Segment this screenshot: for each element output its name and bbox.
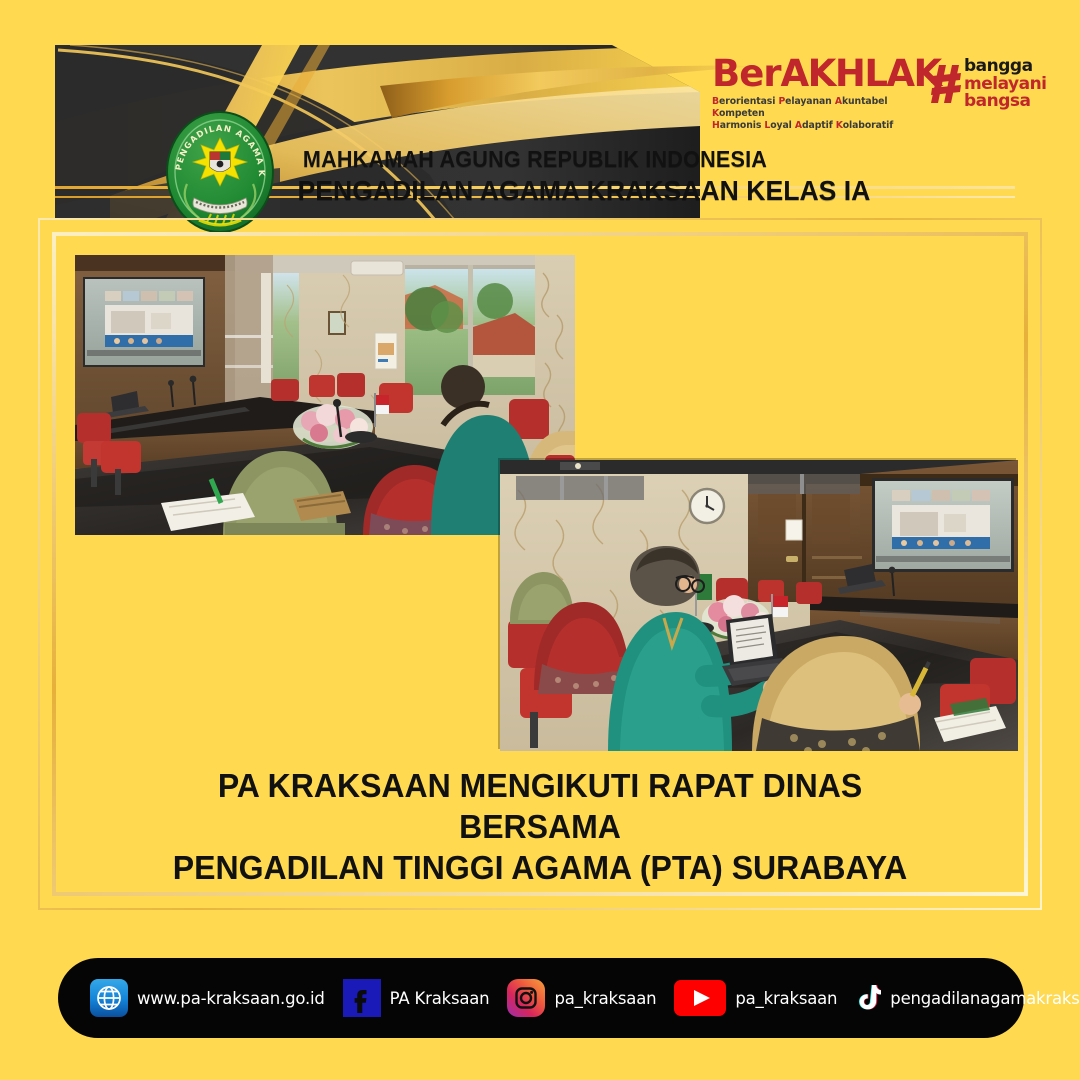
bangga-line1: bangga	[964, 58, 1047, 76]
meeting-room-laptop-photo	[500, 460, 1018, 751]
footer-item-facebook[interactable]: PA Kraksaan	[343, 979, 490, 1017]
youtube-icon	[674, 979, 726, 1017]
instagram-icon	[507, 979, 545, 1017]
gold-swoosh-tail	[380, 66, 760, 118]
caption-line-3: PENGADILAN TINGGI AGAMA (PTA) SURABAYA	[74, 847, 1005, 888]
berakhlak-logo: BerAKHLAK Berorientasi Pelayanan Akuntab…	[712, 55, 922, 132]
poster-canvas: PENGADILAN AGAMA KRAKSAAN MAHKAMAH AGUNG…	[0, 0, 1080, 1080]
globe-icon	[90, 979, 128, 1017]
bangga-line3: bangsa	[964, 93, 1047, 111]
tiktok-icon	[855, 979, 881, 1017]
caption-line-1: PA KRAKSAAN MENGIKUTI RAPAT DINAS	[74, 765, 1005, 806]
footer-item-instagram[interactable]: pa_kraksaan	[507, 979, 656, 1017]
caption-block: PA KRAKSAAN MENGIKUTI RAPAT DINAS BERSAM…	[60, 765, 1020, 888]
office-title: PENGADILAN AGAMA KRAKSAAN KELAS IA	[298, 175, 773, 207]
footer-label-youtube: pa_kraksaan	[735, 989, 837, 1008]
berakhlak-tagline-line1: Berorientasi Pelayanan Akuntabel Kompete…	[712, 96, 922, 120]
footer-item-youtube[interactable]: pa_kraksaan	[674, 979, 837, 1017]
caption-line-2: BERSAMA	[74, 806, 1005, 847]
header-titles: MAHKAMAH AGUNG REPUBLIK INDONESIA PENGAD…	[285, 146, 785, 207]
social-footer-bar: www.pa-kraksaan.go.id PA Kraksaan	[58, 958, 1024, 1038]
footer-label-instagram: pa_kraksaan	[554, 989, 656, 1008]
footer-label-tiktok: pengadilanagamakraksaan	[890, 989, 1080, 1008]
facebook-icon	[343, 979, 381, 1017]
footer-label-facebook: PA Kraksaan	[390, 989, 490, 1008]
berakhlak-tagline-line2: Harmonis Loyal Adaptif Kolaboratif	[712, 120, 922, 132]
berakhlak-tagline: Berorientasi Pelayanan Akuntabel Kompete…	[712, 96, 922, 132]
bangga-wordmark: bangga melayani bangsa	[964, 58, 1047, 111]
berakhlak-wordmark: BerAKHLAK	[712, 55, 922, 92]
footer-item-tiktok[interactable]: pengadilanagamakraksaan	[855, 979, 1080, 1017]
hashtag-icon	[930, 61, 962, 107]
court-seal-icon: PENGADILAN AGAMA KRAKSAAN	[165, 110, 275, 234]
bangga-melayani-bangsa-logo: bangga melayani bangsa	[930, 58, 1047, 111]
footer-item-website[interactable]: www.pa-kraksaan.go.id	[90, 979, 325, 1017]
footer-label-website: www.pa-kraksaan.go.id	[137, 989, 325, 1008]
institution-title: MAHKAMAH AGUNG REPUBLIK INDONESIA	[300, 146, 770, 173]
